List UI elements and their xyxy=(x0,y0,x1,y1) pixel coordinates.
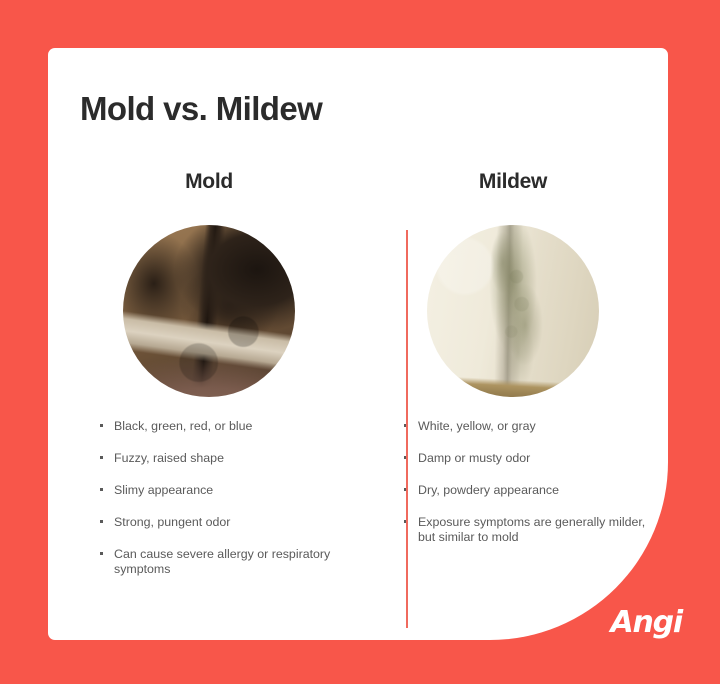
list-item: Damp or musty odor xyxy=(404,451,648,466)
bullet-dot-icon xyxy=(100,552,103,555)
list-item: Strong, pungent odor xyxy=(100,515,344,530)
bullet-dot-icon xyxy=(100,520,103,523)
photo-wrap-mildew xyxy=(378,225,648,401)
list-item: Dry, powdery appearance xyxy=(404,483,648,498)
bullet-dot-icon xyxy=(100,456,103,459)
column-heading-mold: Mold xyxy=(74,170,344,200)
list-item: Exposure symptoms are generally milder, … xyxy=(404,515,648,545)
list-item-label: Black, green, red, or blue xyxy=(114,419,252,433)
list-item: Black, green, red, or blue xyxy=(100,419,344,434)
list-item-label: Fuzzy, raised shape xyxy=(114,451,224,465)
mold-photo xyxy=(123,225,295,397)
list-item-label: Strong, pungent odor xyxy=(114,515,230,529)
list-item-label: Damp or musty odor xyxy=(418,451,530,465)
list-item: Can cause severe allergy or respiratory … xyxy=(100,547,344,577)
list-item-label: Exposure symptoms are generally milder, … xyxy=(418,515,645,544)
list-item: Slimy appearance xyxy=(100,483,344,498)
bullet-dot-icon xyxy=(100,488,103,491)
column-heading-mildew: Mildew xyxy=(378,170,648,200)
content-card: Mold vs. Mildew Mold Black, green, red, … xyxy=(48,48,668,640)
list-item-label: Dry, powdery appearance xyxy=(418,483,559,497)
list-item: Fuzzy, raised shape xyxy=(100,451,344,466)
bullet-list-mold: Black, green, red, or blue Fuzzy, raised… xyxy=(74,419,344,577)
mildew-photo xyxy=(427,225,599,397)
column-mildew: Mildew White, yellow, or gray Damp or mu… xyxy=(378,170,648,562)
column-mold: Mold Black, green, red, or blue Fuzzy, r… xyxy=(74,170,344,577)
angi-logo: Angi xyxy=(610,605,682,640)
column-divider xyxy=(406,230,408,628)
list-item: White, yellow, or gray xyxy=(404,419,648,434)
bullet-list-mildew: White, yellow, or gray Damp or musty odo… xyxy=(378,419,648,545)
bullet-dot-icon xyxy=(100,424,103,427)
photo-wrap-mold xyxy=(74,225,344,401)
list-item-label: Slimy appearance xyxy=(114,483,213,497)
page-title: Mold vs. Mildew xyxy=(80,90,322,128)
infographic-canvas: Mold vs. Mildew Mold Black, green, red, … xyxy=(0,0,720,684)
list-item-label: Can cause severe allergy or respiratory … xyxy=(114,547,330,576)
list-item-label: White, yellow, or gray xyxy=(418,419,536,433)
